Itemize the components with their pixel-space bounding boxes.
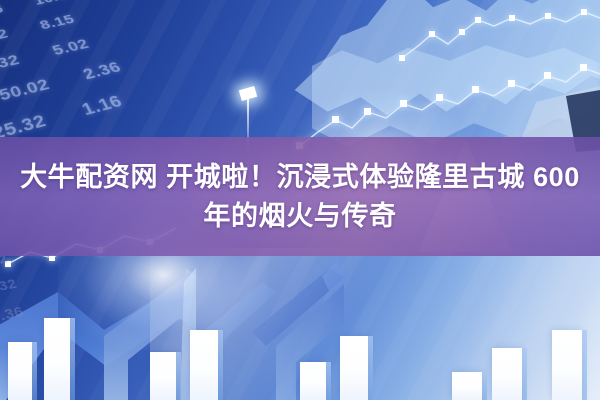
page-title-line-1: 大牛配资网 开城啦！沉浸式体验隆里古城 600 xyxy=(20,159,580,196)
banner-image: -06.02-02.3521.65 -02.33-11.2545.02 3.35… xyxy=(0,0,600,400)
bar-column xyxy=(492,348,522,400)
bar-column xyxy=(150,352,176,400)
bar-column xyxy=(190,330,218,400)
bar-column xyxy=(300,362,326,400)
page-title-line-2: 年的烟火与传奇 xyxy=(203,198,396,235)
bar-column xyxy=(552,330,582,400)
bar-column xyxy=(340,336,368,400)
title-block: 大牛配资网 开城啦！沉浸式体验隆里古城 600 年的烟火与传奇 xyxy=(0,137,600,256)
bar-column xyxy=(452,372,482,400)
